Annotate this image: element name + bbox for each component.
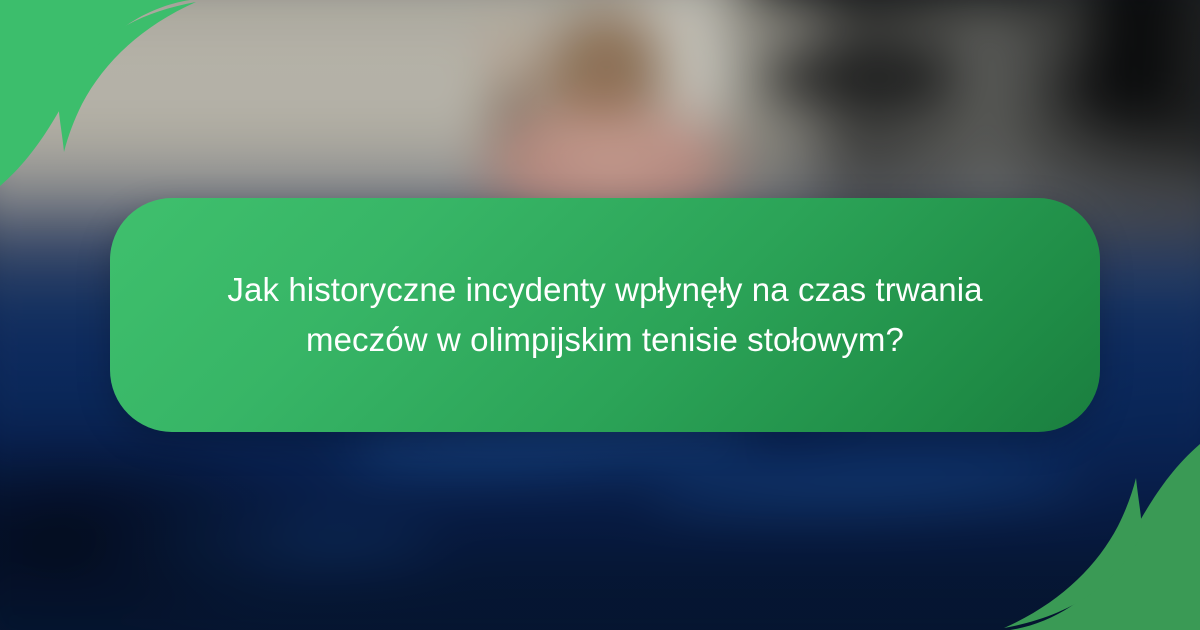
background-shelf-bar <box>1050 70 1120 110</box>
background-water-shadow <box>0 430 320 630</box>
question-card: Jak historyczne incydenty wpłynęły na cz… <box>110 198 1100 432</box>
question-text: Jak historyczne incydenty wpłynęły na cz… <box>205 265 1005 365</box>
social-card-canvas: Jak historyczne incydenty wpłynęły na cz… <box>0 0 1200 630</box>
background-shelf-bar <box>770 60 950 96</box>
